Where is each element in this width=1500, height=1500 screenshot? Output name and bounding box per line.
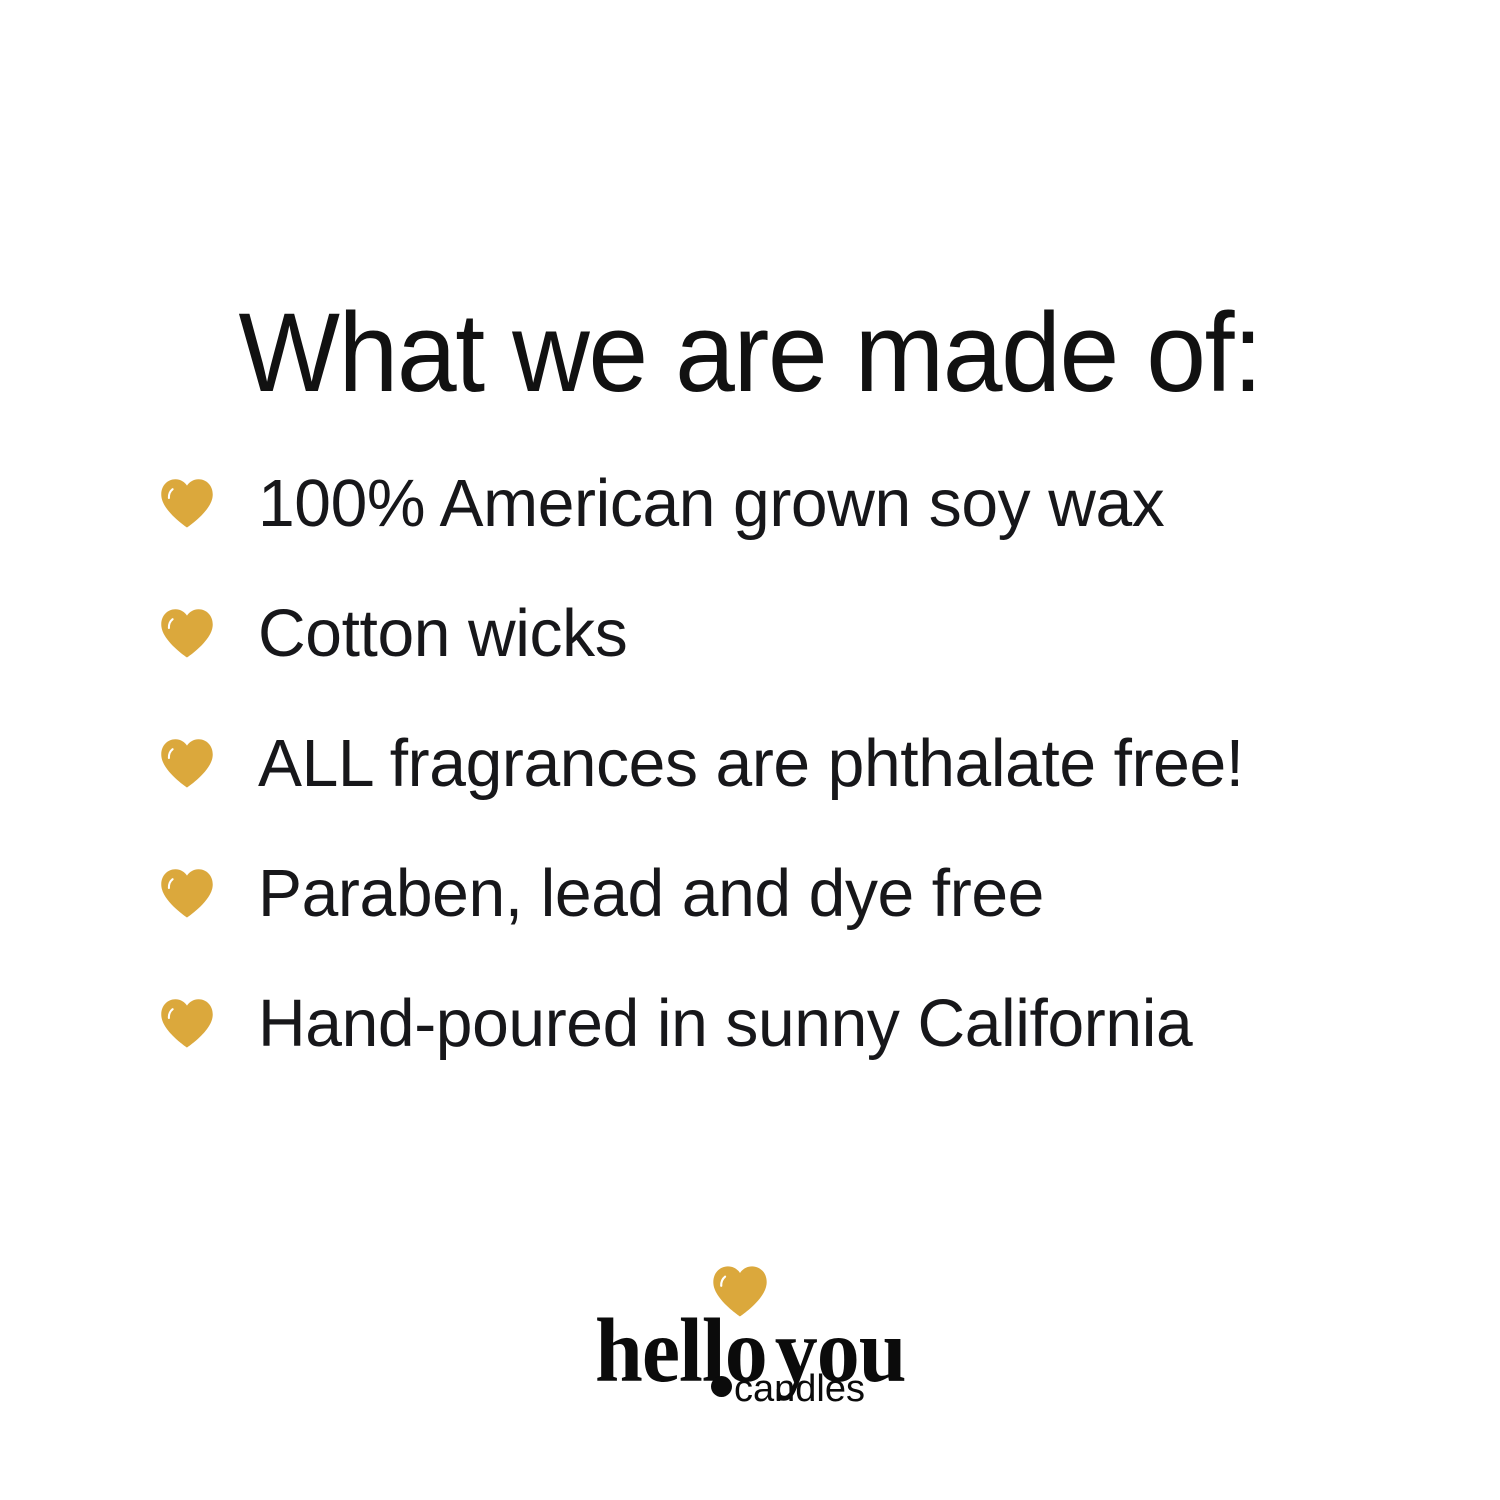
list-item-label: Hand-poured in sunny California — [258, 990, 1192, 1057]
feature-list: 100% American grown soy wax Cotton wicks… — [160, 452, 1420, 1074]
list-item: 100% American grown soy wax — [160, 452, 1420, 554]
page-title: What we are made of: — [30, 293, 1470, 414]
list-item-label: Paraben, lead and dye free — [258, 860, 1044, 927]
heart-icon — [160, 477, 214, 529]
list-item: Cotton wicks — [160, 582, 1420, 684]
made-of-graphic: What we are made of: 100% American grown… — [0, 0, 1500, 1500]
list-item-label: ALL fragrances are phthalate free! — [258, 730, 1244, 797]
list-item-label: 100% American grown soy wax — [258, 470, 1164, 537]
list-item: Hand-poured in sunny California — [160, 972, 1420, 1074]
brand-logo: helloyou candles — [0, 1258, 1500, 1448]
brand-logo-inner: helloyou candles — [595, 1258, 905, 1448]
heart-icon — [160, 867, 214, 919]
heart-icon — [160, 737, 214, 789]
list-item: Paraben, lead and dye free — [160, 842, 1420, 944]
list-item-label: Cotton wicks — [258, 600, 627, 667]
heart-icon — [160, 607, 214, 659]
list-item: ALL fragrances are phthalate free! — [160, 712, 1420, 814]
brand-tagline: candles — [734, 1370, 865, 1408]
heart-icon — [160, 997, 214, 1049]
brand-dot-icon — [711, 1376, 732, 1397]
